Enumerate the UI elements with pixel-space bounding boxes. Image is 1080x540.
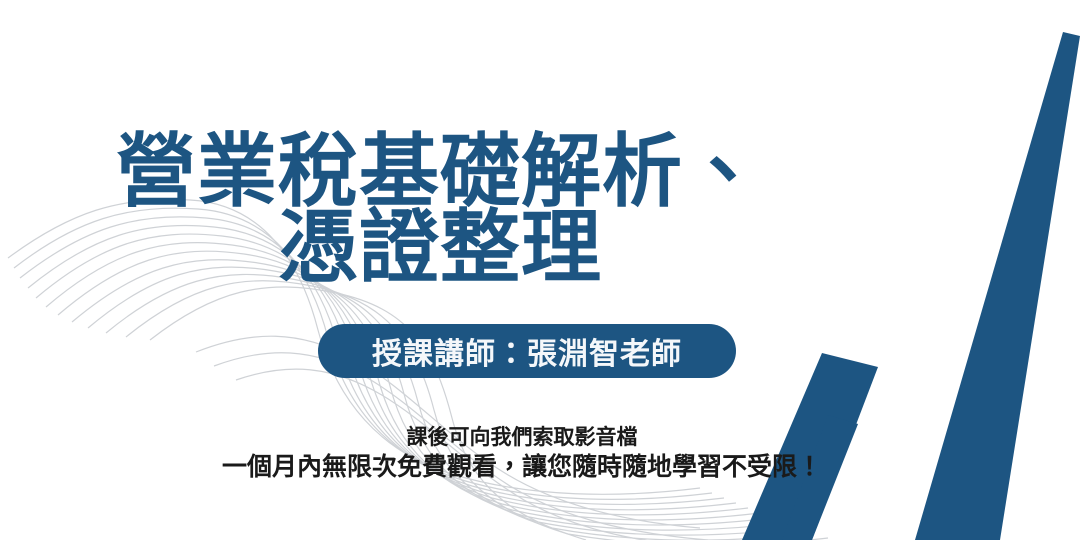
instructor-badge-label: 授課講師：張淵智老師: [372, 329, 682, 373]
page-title: 營業稅基礎解析、 憑證整理: [0, 134, 880, 286]
footer-line-2: 一個月內無限次免費觀看，讓您隨時隨地學習不受限！: [0, 451, 1044, 483]
instructor-badge: 授課講師：張淵智老師: [318, 324, 736, 378]
footer-line-1: 課後可向我們索取影音檔: [0, 424, 1044, 451]
title-line-2: 憑證整理: [0, 210, 880, 286]
title-slide: 營業稅基礎解析、 憑證整理 授課講師：張淵智老師 課後可向我們索取影音檔 一個月…: [0, 0, 1080, 540]
title-line-1: 營業稅基礎解析、: [0, 134, 880, 210]
slide-content: 營業稅基礎解析、 憑證整理 授課講師：張淵智老師 課後可向我們索取影音檔 一個月…: [0, 0, 1080, 540]
footer-note: 課後可向我們索取影音檔 一個月內無限次免費觀看，讓您隨時隨地學習不受限！: [0, 424, 1044, 483]
